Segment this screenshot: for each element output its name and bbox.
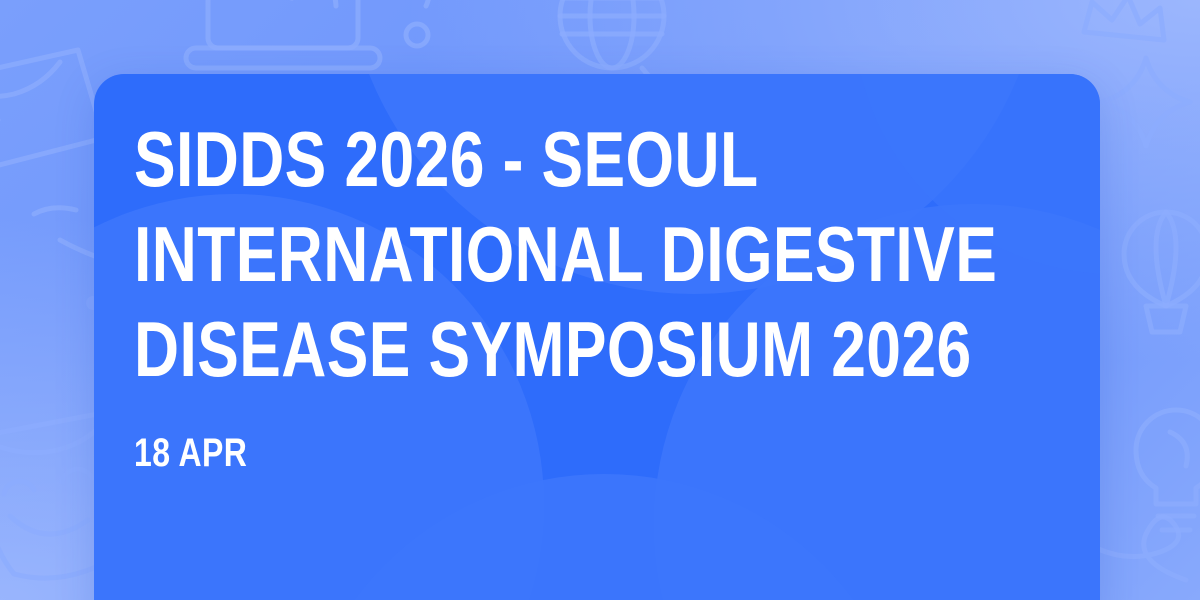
event-card-content: SIDDS 2026 - SEOUL INTERNATIONAL DIGESTI… xyxy=(94,74,1100,600)
event-card: SIDDS 2026 - SEOUL INTERNATIONAL DIGESTI… xyxy=(94,74,1100,600)
event-title: SIDDS 2026 - SEOUL INTERNATIONAL DIGESTI… xyxy=(134,112,1100,397)
event-date: 18 APR xyxy=(134,431,859,475)
